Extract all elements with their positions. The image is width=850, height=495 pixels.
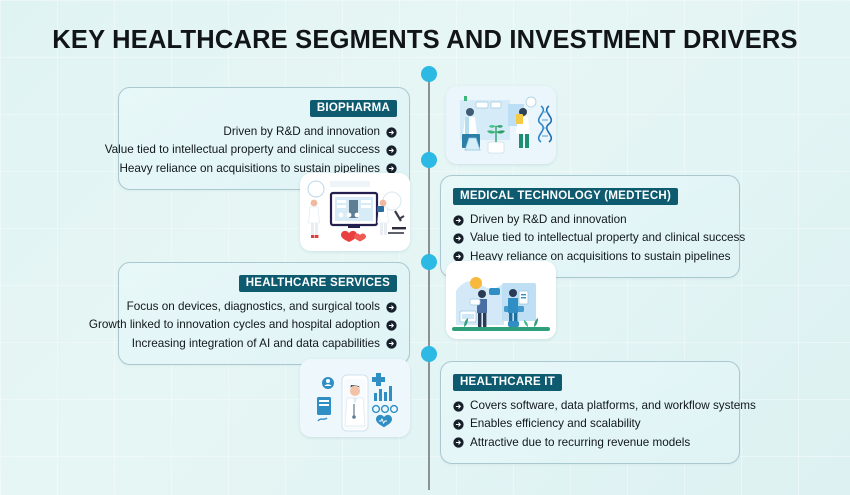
biopharma-lab-research-illustration bbox=[446, 86, 556, 164]
segment-label-healthcare-it: HEALTHCARE IT bbox=[453, 374, 562, 392]
bullet-text: Covers software, data platforms, and wor… bbox=[470, 397, 756, 415]
segment-label-medtech: MEDICAL TECHNOLOGY (MEDTECH) bbox=[453, 188, 678, 206]
arrow-circle-icon bbox=[386, 302, 397, 313]
bullet-list-healthcare-services: Focus on devices, diagnostics, and surgi… bbox=[131, 298, 397, 353]
bullet-text: Attractive due to recurring revenue mode… bbox=[470, 434, 690, 452]
segment-label-biopharma: BIOPHARMA bbox=[310, 100, 397, 118]
segment-card-healthcare-services[interactable]: HEALTHCARE SERVICES Focus on devices, di… bbox=[118, 262, 410, 365]
list-item: Driven by R&D and innovation bbox=[453, 211, 727, 229]
page-title-bar: KEY HEALTHCARE SEGMENTS AND INVESTMENT D… bbox=[0, 26, 850, 55]
timeline-dot-1 bbox=[421, 66, 437, 82]
bullet-text: Value tied to intellectual property and … bbox=[105, 141, 380, 159]
list-item: Driven by R&D and innovation bbox=[131, 123, 397, 141]
bullet-text: Driven by R&D and innovation bbox=[223, 123, 380, 141]
arrow-circle-icon bbox=[386, 338, 397, 349]
badge-wrap-healthcare-it: HEALTHCARE IT bbox=[453, 372, 727, 391]
arrow-circle-icon bbox=[453, 401, 464, 412]
segment-image-medtech bbox=[300, 173, 410, 251]
arrow-circle-icon bbox=[453, 215, 464, 226]
bullet-text: Enables efficiency and scalability bbox=[470, 415, 641, 433]
list-item: Value tied to intellectual property and … bbox=[453, 229, 727, 247]
bullet-text: Focus on devices, diagnostics, and surgi… bbox=[127, 298, 380, 316]
healthcare-services-patient-nurse-illustration bbox=[446, 261, 556, 339]
badge-wrap-healthcare-services: HEALTHCARE SERVICES bbox=[131, 273, 397, 292]
bullet-text: Growth linked to innovation cycles and h… bbox=[89, 316, 380, 334]
arrow-circle-icon bbox=[386, 320, 397, 331]
infographic-canvas: KEY HEALTHCARE SEGMENTS AND INVESTMENT D… bbox=[0, 0, 850, 495]
arrow-circle-icon bbox=[453, 419, 464, 430]
badge-wrap-medtech: MEDICAL TECHNOLOGY (MEDTECH) bbox=[453, 186, 727, 205]
segment-label-healthcare-services: HEALTHCARE SERVICES bbox=[239, 275, 397, 293]
healthcare-it-telemedicine-illustration bbox=[300, 359, 410, 437]
list-item: Focus on devices, diagnostics, and surgi… bbox=[131, 298, 397, 316]
bullet-text: Value tied to intellectual property and … bbox=[470, 229, 745, 247]
arrow-circle-icon bbox=[386, 127, 397, 138]
bullet-text: Increasing integration of AI and data ca… bbox=[132, 335, 380, 353]
bullet-list-biopharma: Driven by R&D and innovation Value tied … bbox=[131, 123, 397, 178]
badge-wrap-biopharma: BIOPHARMA bbox=[131, 98, 397, 117]
list-item: Increasing integration of AI and data ca… bbox=[131, 335, 397, 353]
timeline-dot-3 bbox=[421, 254, 437, 270]
list-item: Growth linked to innovation cycles and h… bbox=[131, 316, 397, 334]
bullet-list-healthcare-it: Covers software, data platforms, and wor… bbox=[453, 397, 727, 452]
segment-card-healthcare-it[interactable]: HEALTHCARE IT Covers software, data plat… bbox=[440, 361, 740, 464]
arrow-circle-icon bbox=[453, 233, 464, 244]
list-item: Enables efficiency and scalability bbox=[453, 415, 727, 433]
list-item: Value tied to intellectual property and … bbox=[131, 141, 397, 159]
segment-image-healthcare-services bbox=[446, 261, 556, 339]
list-item: Covers software, data platforms, and wor… bbox=[453, 397, 727, 415]
page-title: KEY HEALTHCARE SEGMENTS AND INVESTMENT D… bbox=[0, 26, 850, 55]
medical-technology-monitor-illustration bbox=[300, 173, 410, 251]
arrow-circle-icon bbox=[386, 145, 397, 156]
list-item: Attractive due to recurring revenue mode… bbox=[453, 434, 727, 452]
bullet-text: Driven by R&D and innovation bbox=[470, 211, 627, 229]
segment-image-biopharma bbox=[446, 86, 556, 164]
timeline-dot-2 bbox=[421, 152, 437, 168]
timeline-dot-4 bbox=[421, 346, 437, 362]
segment-image-healthcare-it bbox=[300, 359, 410, 437]
timeline-axis bbox=[428, 70, 430, 490]
bullet-list-medtech: Driven by R&D and innovation Value tied … bbox=[453, 211, 727, 266]
arrow-circle-icon bbox=[453, 437, 464, 448]
